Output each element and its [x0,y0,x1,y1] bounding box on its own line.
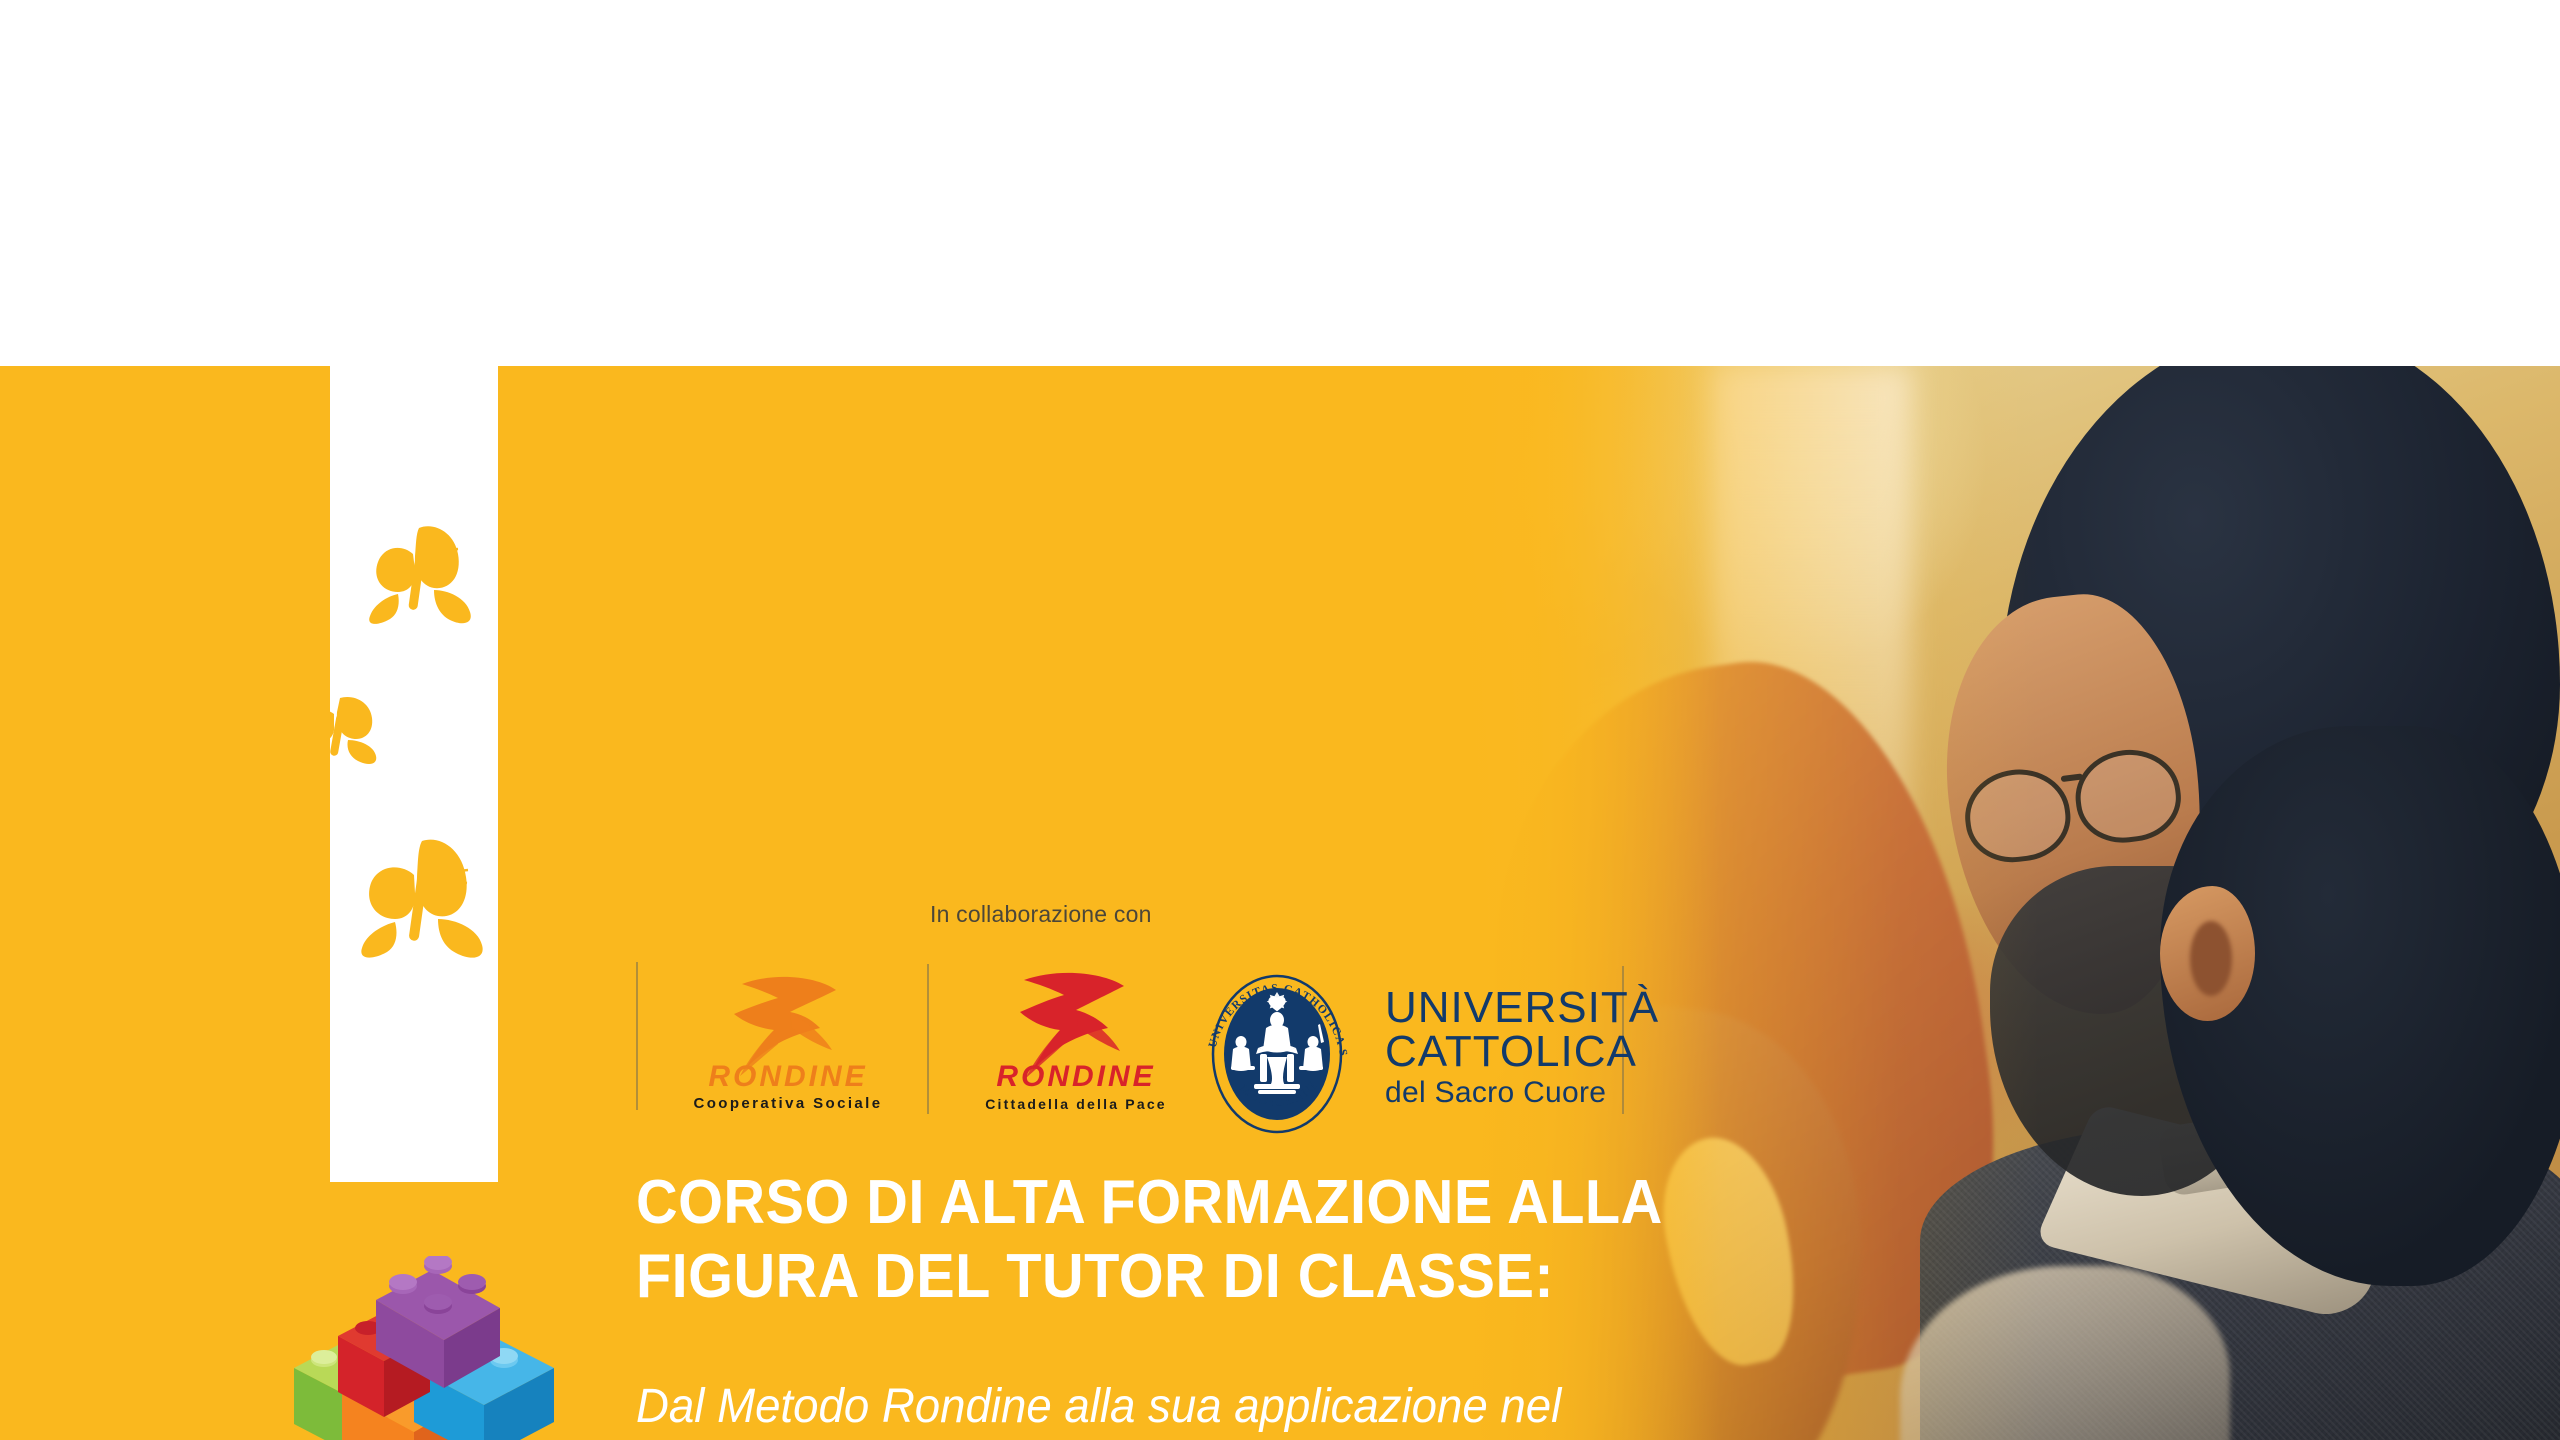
page-title: CORSO DI ALTA FORMAZIONE ALLA FIGURA DEL… [636,1166,1864,1315]
logo-rondine-cittadella-della-pace: RONDINE Cittadella della Pace [958,966,1198,1114]
page-subtitle: Dal Metodo Rondine alla sua applicazione… [636,1376,1890,1440]
butterfly-icon [288,692,384,772]
collaboration-label: In collaborazione con [930,901,1152,928]
university-seal-icon: UNIVERSITAS CATHOLICA SACRI CORDIS JESV … [1192,962,1362,1137]
white-accent-panel [330,366,498,1182]
ucsc-line-1: UNIVERSITÀ [1385,986,1659,1030]
logo-divider-1 [636,962,638,1110]
ucsc-line-3: del Sacro Cuore [1385,1078,1659,1108]
butterfly-icon [358,520,476,624]
logo-universita-cattolica-wordmark: UNIVERSITÀ CATTOLICA del Sacro Cuore [1385,986,1659,1108]
page-subtitle-line-1: Dal Metodo Rondine alla sua applicazione… [636,1376,1890,1438]
page-title-line-1: CORSO DI ALTA FORMAZIONE ALLA [636,1166,1864,1240]
butterfly-icon [350,835,490,960]
swallow-bird-icon: RONDINE Cittadella della Pace [958,966,1198,1114]
logo-divider-2 [927,964,929,1114]
svg-text:Cooperativa Sociale: Cooperativa Sociale [694,1095,883,1112]
yellow-banner: In collaborazione con RONDINE Cooperativ… [0,366,2560,1440]
poster-canvas: In collaborazione con RONDINE Cooperativ… [0,0,2560,1440]
logo-universita-cattolica-seal: UNIVERSITAS CATHOLICA SACRI CORDIS JESV … [1192,962,1362,1137]
logo-rondine-cooperativa-sociale: RONDINE Cooperativa Sociale [670,968,910,1113]
ucsc-line-2: CATTOLICA [1385,1030,1659,1074]
svg-text:Cittadella della Pace: Cittadella della Pace [985,1096,1167,1112]
svg-text:RONDINE: RONDINE [996,1060,1155,1093]
page-title-line-2: FIGURA DEL TUTOR DI CLASSE: [636,1240,1864,1314]
swallow-bird-icon: RONDINE Cooperativa Sociale [670,968,910,1113]
svg-text:RONDINE: RONDINE [708,1060,867,1093]
lego-bricks-icon [272,1256,572,1440]
